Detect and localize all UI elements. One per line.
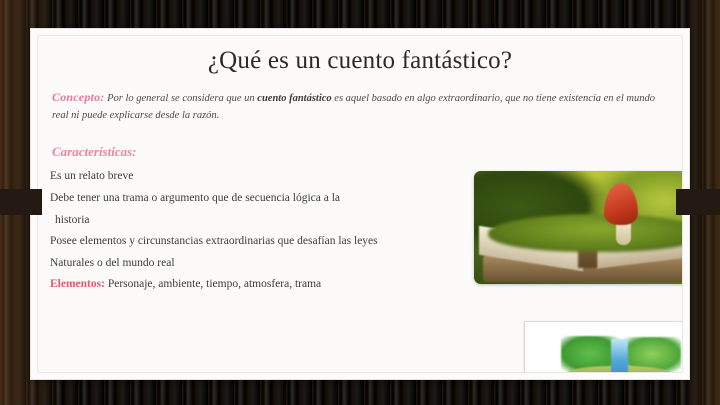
- concept-emphasis: cuento fantástico: [257, 93, 331, 104]
- enchanted-book-forest-photo: [474, 171, 683, 284]
- player-overlay-bar-right: [676, 189, 720, 215]
- concept-label: Concepto:: [52, 90, 104, 104]
- popup-waterfall: [611, 339, 628, 373]
- video-slide-stage: ¿Qué es un cuento fantástico? Concepto: …: [0, 0, 720, 405]
- player-overlay-bar-left: [0, 189, 42, 215]
- presentation-slide-card: ¿Qué es un cuento fantástico? Concepto: …: [30, 28, 690, 380]
- concept-paragraph: Concepto: Por lo general se considera qu…: [52, 88, 670, 124]
- popup-book-landscape-image: [524, 321, 683, 373]
- elements-text: Personaje, ambiente, tiempo, atmosfera, …: [105, 278, 321, 290]
- elements-label: Elementos:: [50, 278, 105, 290]
- characteristics-heading: Características:: [52, 144, 682, 160]
- slide-content-area: ¿Qué es un cuento fantástico? Concepto: …: [37, 35, 683, 373]
- slide-title: ¿Qué es un cuento fantástico?: [38, 47, 682, 75]
- concept-text-before: Por lo general se considera que un: [104, 93, 257, 104]
- moss-landscape: [488, 214, 683, 252]
